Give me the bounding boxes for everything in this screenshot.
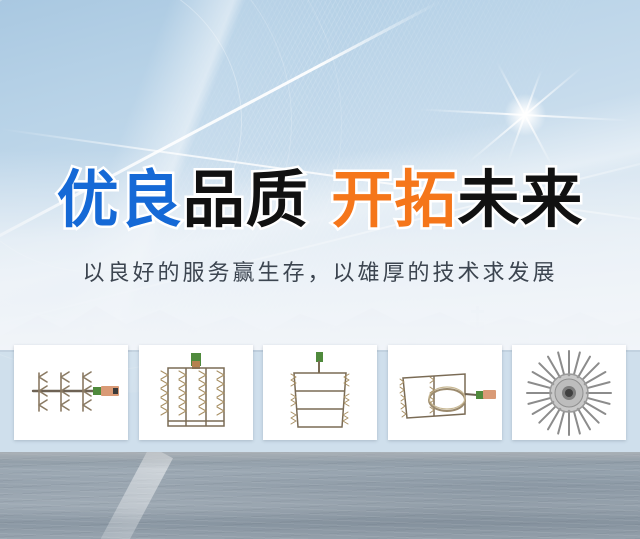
headline-part-quality-noun: 品质 [183, 163, 309, 236]
page-subtitle: 以良好的服务赢生存，以雄厚的技术求发展 [0, 258, 640, 290]
product-card-double-row-spike-rack[interactable]: 双排针型挂具 [139, 345, 253, 440]
product-card-comb-style-plating-rack[interactable]: 梳齿型挂具 [14, 345, 128, 440]
promo-banner: 优良品质 开拓未来 以良好的服务赢生存，以雄厚的技术求发展 梳齿型挂具 [0, 0, 640, 539]
ground-shadow [0, 452, 640, 470]
ground-surface [0, 452, 640, 539]
page-title: 优良品质 开拓未来 [0, 164, 640, 236]
product-card-ring-frame-rack[interactable]: 圆环框架挂具 [388, 345, 502, 440]
product-thumbnail-strip: 梳齿型挂具 [14, 345, 626, 440]
rack-spike-icon [154, 351, 238, 435]
rack-starburst-icon [524, 348, 614, 438]
product-card-radial-starburst-rack[interactable]: 放射状圆盘挂具 [512, 345, 626, 440]
headline-part-pioneer: 开拓 [331, 163, 457, 236]
headline-gap [309, 163, 332, 236]
rack-ring-icon [393, 360, 497, 426]
rack-comb-icon [21, 357, 121, 429]
rack-ladder-icon [280, 351, 360, 435]
headline-part-quality-adj: 优良 [57, 163, 183, 236]
headline-part-future: 未来 [457, 163, 583, 236]
product-card-ladder-frame-rack[interactable]: 梯形框架挂具 [263, 345, 377, 440]
